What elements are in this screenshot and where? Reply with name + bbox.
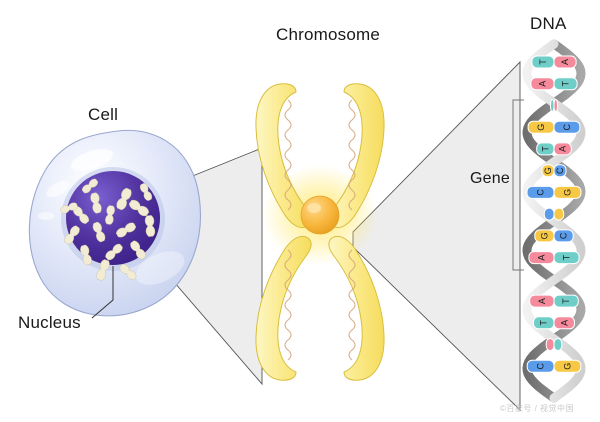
dna-base-letter: T [539,320,549,326]
dna-base-letter: C [536,189,546,196]
dna-base-pair: CG [527,186,581,198]
biology-diagram-svg: TAATGCTAGCCGGCATATTACG [0,0,600,422]
dna-base-letter: T [562,254,572,260]
dna-base-letter: A [560,59,570,65]
dna-base-letter: C [536,363,546,370]
dna-base-letter: C [562,123,572,130]
dna-base-pair: GC [528,121,580,133]
dna-base-A [546,339,554,351]
centromere [301,196,339,234]
dna-base-letter: T [561,298,571,304]
diagram-canvas: TAATGCTAGCCGGCATATTACG Cell Chromosome D… [0,0,600,422]
dna-base-pair: AT [531,78,577,90]
dna-base-pair [551,100,558,112]
dna-base-C [544,208,554,220]
label-dna: DNA [530,14,567,34]
dna-base-letter: C [559,232,569,239]
dna-base-letter: G [543,167,553,174]
dna-base-pair: TA [532,56,576,68]
dna-base-letter: T [540,146,550,152]
label-chromosome: Chromosome [276,25,380,45]
dna-base-letter: C [555,167,565,174]
label-gene: Gene [470,170,510,188]
dna-graphic: TAATGCTAGCCGGCATATTACG [527,44,581,398]
dna-base-letter: G [562,363,572,370]
chromosome-graphic [256,84,384,380]
dna-base-letter: A [537,255,547,261]
dna-base-G [554,208,564,220]
label-cell: Cell [88,105,118,125]
dna-base-pair: GC [535,230,573,242]
dna-base-letter: A [537,298,547,304]
dna-base-pair: CG [527,360,581,372]
watermark: ©百家号 / 视觉中国 [500,403,574,414]
dna-base-pair: AT [529,252,579,264]
dna-base-pair: TA [537,143,572,155]
dna-base-letter: G [536,124,546,131]
dna-base-A [554,100,558,112]
dna-base-pair: TA [534,317,575,329]
dna-base-T [554,339,562,351]
dna-base-letter: A [558,146,568,152]
dna-base-letter: G [563,189,573,196]
dna-base-pair: AT [530,295,579,307]
dna-base-letter: T [561,80,571,86]
dna-base-letter: G [539,232,549,239]
dna-base-letter: T [538,59,548,65]
dna-base-letter: A [538,81,548,87]
dna-base-letter: A [559,320,569,326]
dna-base-T [551,100,555,112]
cell-graphic [29,130,200,318]
label-nucleus: Nucleus [18,313,81,333]
